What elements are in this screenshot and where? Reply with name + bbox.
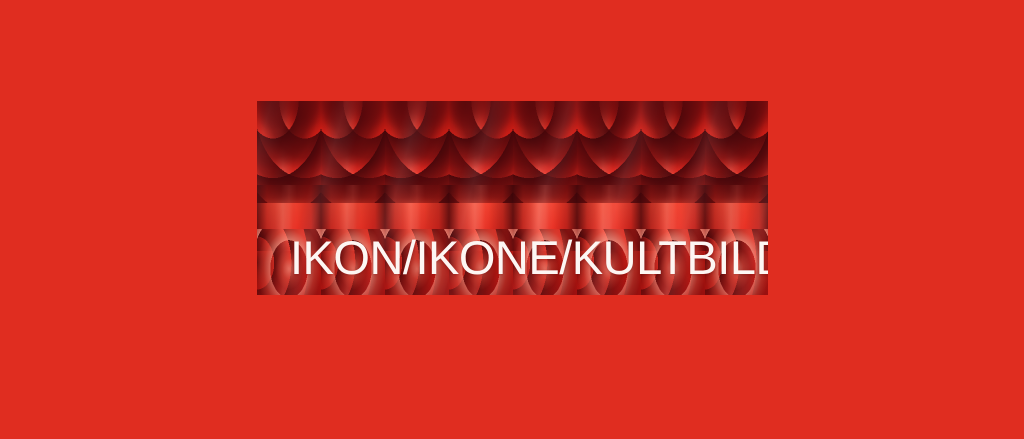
poster-title: IKON/IKONE/KULTBILD: [290, 234, 768, 281]
exhibition-poster-banner[interactable]: IKON/IKONE/KULTBILD 10. August – 8. Sept…: [257, 101, 768, 295]
poster-text-block: IKON/IKONE/KULTBILD 10. August – 8. Sept…: [290, 101, 768, 295]
page-root: IKON/IKONE/KULTBILD 10. August – 8. Sept…: [0, 0, 1024, 439]
